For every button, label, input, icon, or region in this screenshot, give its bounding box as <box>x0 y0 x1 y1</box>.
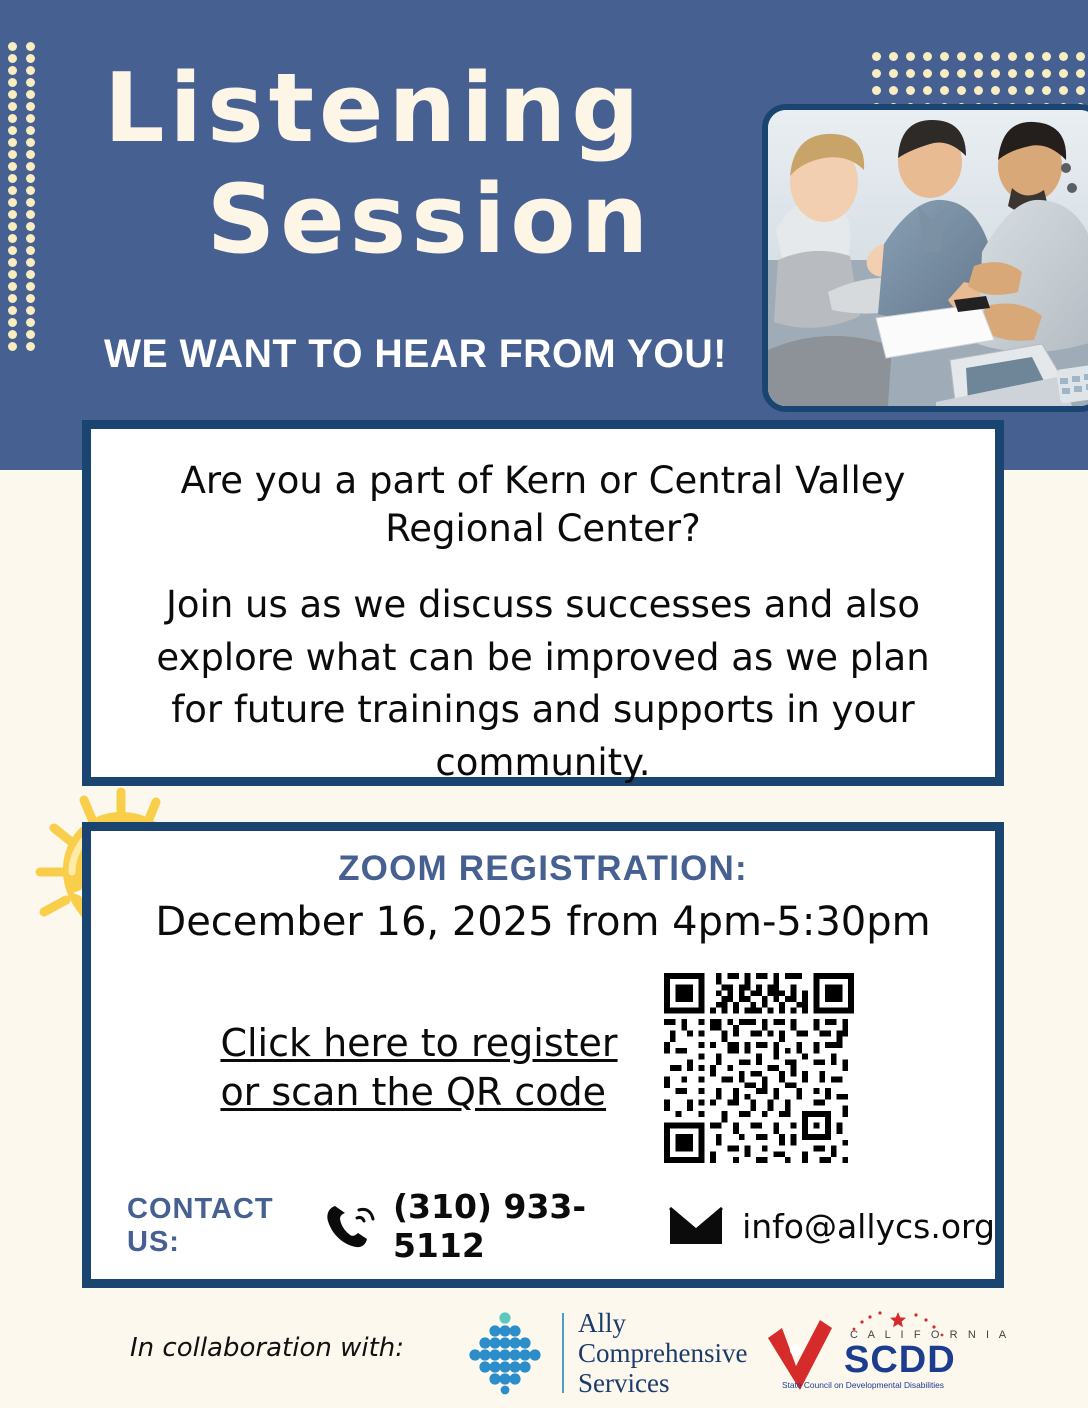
contact-us-label: CONTACT US: <box>127 1193 305 1259</box>
contact-row: CONTACT US: (310) 933-5112 info@allycs.o… <box>91 1187 995 1265</box>
contact-phone[interactable]: (310) 933-5112 <box>393 1187 636 1265</box>
intro-paragraph-1: Are you a part of Kern or Central Valley… <box>145 457 941 553</box>
registration-box: ZOOM REGISTRATION: December 16, 2025 fro… <box>82 822 1004 1288</box>
ally-dots-icon <box>462 1310 548 1396</box>
scdd-tagline-text: State Council on Developmental Disabilit… <box>782 1380 944 1390</box>
page-title: Listening Session <box>90 62 770 268</box>
meeting-photo-illustration <box>768 110 1088 406</box>
qr-code[interactable] <box>652 973 866 1163</box>
envelope-icon <box>668 1205 724 1247</box>
phone-icon <box>323 1200 375 1252</box>
scdd-acronym-text: SCDD <box>844 1339 956 1381</box>
zoom-date-time: December 16, 2025 from 4pm-5:30pm <box>91 889 995 945</box>
zoom-registration-heading: ZOOM REGISTRATION: <box>91 831 995 889</box>
left-dot-pattern <box>8 42 44 354</box>
ally-logo: Ally Comprehensive Services <box>462 1308 747 1399</box>
contact-email[interactable]: info@allycs.org <box>742 1207 995 1246</box>
scdd-logo: C A L I F O R N I A SCDD State Council o… <box>766 1308 1006 1404</box>
registration-row: Click here to register or scan the QR co… <box>91 945 995 1163</box>
header-banner: Listening Session WE WANT TO HEAR FROM Y… <box>0 0 1088 470</box>
intro-text-box: Are you a part of Kern or Central Valley… <box>82 420 1004 786</box>
intro-paragraph-2: Join us as we discuss successes and also… <box>145 579 941 789</box>
register-link[interactable]: Click here to register or scan the QR co… <box>220 1019 617 1116</box>
meeting-photo <box>762 104 1088 412</box>
title-line-2: Session <box>90 173 770 268</box>
header-subtitle: WE WANT TO HEAR FROM YOU! <box>104 332 727 377</box>
ally-logo-divider <box>562 1313 564 1393</box>
title-line-1: Listening <box>90 62 770 157</box>
ally-logo-name: Ally Comprehensive Services <box>578 1308 747 1399</box>
collaboration-label: In collaboration with: <box>130 1333 404 1363</box>
